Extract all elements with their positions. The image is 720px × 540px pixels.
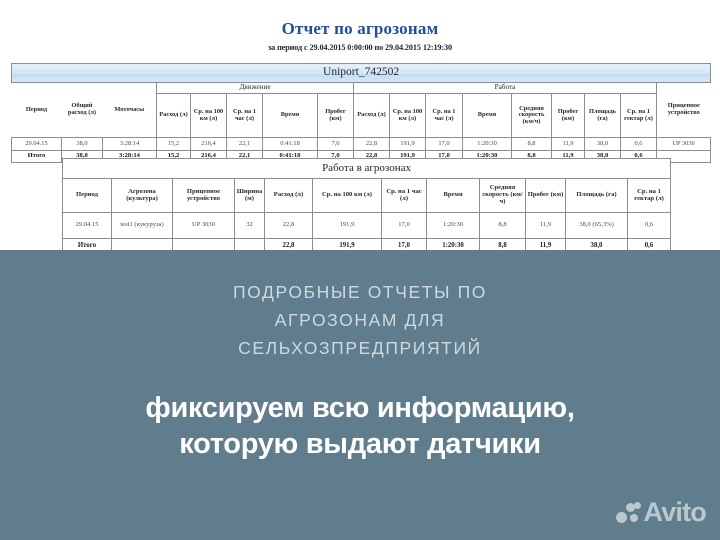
table1-cell: 29.04.15 (12, 138, 62, 151)
table2-header-cell: Ширина (м) (235, 179, 265, 213)
banner-headline-line2: которую выдают датчики (0, 426, 720, 462)
banner-headline-line1: фиксируем всю информацию, (0, 390, 720, 426)
table1-total-cell: Итого (12, 151, 62, 163)
table2-cell: 11,9 (526, 213, 566, 239)
table1-header-cell: Ср. на 1 час (л) (426, 94, 463, 138)
table1-group-title-row: Uniport_742502 (12, 64, 711, 83)
table1-cell: 38,0 (585, 138, 621, 151)
table1-cell: 11,9 (552, 138, 585, 151)
table2-total-cell: 191,9 (313, 239, 382, 251)
banner-subheading-line: АГРОЗОНАМ ДЛЯ (0, 306, 720, 334)
banner-subheading-line: ПОДРОБНЫЕ ОТЧЕТЫ ПО (0, 278, 720, 306)
th-total-fuel: Общий расход (л) (62, 83, 103, 138)
table1-cell: 0,6 (621, 138, 657, 151)
table2-header-cell: Площадь (га) (566, 179, 628, 213)
avito-watermark: Avito (616, 497, 707, 528)
table1-cell: 7,0 (318, 138, 354, 151)
banner-headline: фиксируем всю информацию, которую выдают… (0, 390, 720, 462)
table1-cell: 3:28:14 (103, 138, 157, 151)
banner-subheading: ПОДРОБНЫЕ ОТЧЕТЫ ПО АГРОЗОНАМ ДЛЯ СЕЛЬХО… (0, 278, 720, 362)
avito-wordmark: Avito (644, 497, 707, 528)
promo-banner: ПОДРОБНЫЕ ОТЧЕТЫ ПО АГРОЗОНАМ ДЛЯ СЕЛЬХО… (0, 250, 720, 540)
table1-cell: 22,8 (354, 138, 390, 151)
table2-total-cell (112, 239, 173, 251)
vehicle-summary-table-wrap: Uniport_742502 Период Общий расход (л) М… (11, 63, 710, 163)
table2-cell: 38,0 (65,3%) (566, 213, 628, 239)
table1-header-cell: Пробег (км) (552, 94, 585, 138)
table2-cell: 32 (235, 213, 265, 239)
table1-cell: 22,1 (227, 138, 263, 151)
table2-header-cell: Время (427, 179, 480, 213)
table1-group-work: Работа (354, 83, 657, 94)
table1-header-cell: Расход (л) (157, 94, 191, 138)
table1-header-cell: Пробег (км) (318, 94, 354, 138)
report-screenshot: Отчет по агрозонам за период с 29.04.201… (0, 0, 720, 250)
table2-header-cell: Ср. на 100 км (л) (313, 179, 382, 213)
th-engine-hours: Моточасы (103, 83, 157, 138)
table1-cell: 191,9 (390, 138, 426, 151)
table1-cell: 0:41:18 (263, 138, 318, 151)
table1-group-movement: Движение (157, 83, 354, 94)
banner-subheading-line: СЕЛЬХОЗПРЕДПРИЯТИЙ (0, 334, 720, 362)
table1-header-cell: Ср. на 1 час (л) (227, 94, 263, 138)
table-row: 29.04.15 test1 (кукуруза) UP 3030 32 22,… (63, 213, 671, 239)
table2-group-title: Работа в агрозонах (63, 159, 671, 179)
table2-total-row: Итого 22,8 191,9 17,0 1:20:30 8,8 11,9 3… (63, 239, 671, 251)
th-implement: Прицепное устройство (657, 83, 711, 138)
table2-cell: 0,6 (628, 213, 671, 239)
table2-total-cell: 8,8 (480, 239, 526, 251)
table1-header-cell: Ср. на 100 км (л) (191, 94, 227, 138)
table2-total-cell: 17,0 (382, 239, 427, 251)
table2-cell: 191,9 (313, 213, 382, 239)
table1-cell: 1:20:30 (463, 138, 512, 151)
table1-cell: 8,8 (512, 138, 552, 151)
table2-header-cell: Агрозона (культура) (112, 179, 173, 213)
table1-header-cell: Средняя скорость (км/ч) (512, 94, 552, 138)
agrozone-work-table: Работа в агрозонах Период Агрозона (куль… (62, 158, 671, 250)
table2-cell: 29.04.15 (63, 213, 112, 239)
table1-header-cell: Ср. на 100 км (л) (390, 94, 426, 138)
table1-cell: 17,0 (426, 138, 463, 151)
table1-group-header-row: Период Общий расход (л) Моточасы Движени… (12, 83, 711, 94)
table1-header-cell: Расход (л) (354, 94, 390, 138)
vehicle-summary-table: Uniport_742502 Период Общий расход (л) М… (11, 63, 711, 163)
table2-total-cell: 38,0 (566, 239, 628, 251)
table2-header-cell: Ср. на 1 час (л) (382, 179, 427, 213)
avito-logo-icon (616, 501, 642, 525)
table2-header-cell: Пробег (км) (526, 179, 566, 213)
table2-cell: 8,8 (480, 213, 526, 239)
table2-header-cell: Ср. на 1 гектар (л) (628, 179, 671, 213)
table2-total-cell: 0,6 (628, 239, 671, 251)
table2-header-row: Период Агрозона (культура) Прицепное уст… (63, 179, 671, 213)
table2-total-cell: 22,8 (265, 239, 313, 251)
table2-cell: 22,8 (265, 213, 313, 239)
table2-header-cell: Расход (л) (265, 179, 313, 213)
agrozone-work-table-wrap: Работа в агрозонах Период Агрозона (куль… (62, 158, 670, 250)
table1-header-cell: Площадь (га) (585, 94, 621, 138)
report-title: Отчет по агрозонам (0, 20, 720, 39)
table2-total-cell: Итого (63, 239, 112, 251)
table1-header-cell: Время (463, 94, 512, 138)
table2-group-title-row: Работа в агрозонах (63, 159, 671, 179)
report-subtitle: за период с 29.04.2015 0:00:00 по 29.04.… (0, 43, 720, 52)
table2-cell: test1 (кукуруза) (112, 213, 173, 239)
table2-total-cell (173, 239, 235, 251)
table2-cell: 17,0 (382, 213, 427, 239)
table1-cell: 15,2 (157, 138, 191, 151)
table2-cell: UP 3030 (173, 213, 235, 239)
table2-header-cell: Период (63, 179, 112, 213)
table-row: 29.04.15 38,0 3:28:14 15,2 216,4 22,1 0:… (12, 138, 711, 151)
th-period: Период (12, 83, 62, 138)
table2-header-cell: Средняя скорость (км/ч) (480, 179, 526, 213)
table1-cell: UP 3030 (657, 138, 711, 151)
table1-header-cell: Время (263, 94, 318, 138)
table1-header-cell: Ср. на 1 гектар (л) (621, 94, 657, 138)
table2-total-cell (235, 239, 265, 251)
table1-group-title: Uniport_742502 (12, 64, 711, 83)
table1-cell: 38,0 (62, 138, 103, 151)
table2-header-cell: Прицепное устройство (173, 179, 235, 213)
table2-total-cell: 1:20:30 (427, 239, 480, 251)
table2-cell: 1:20:30 (427, 213, 480, 239)
table2-total-cell: 11,9 (526, 239, 566, 251)
table1-cell: 216,4 (191, 138, 227, 151)
